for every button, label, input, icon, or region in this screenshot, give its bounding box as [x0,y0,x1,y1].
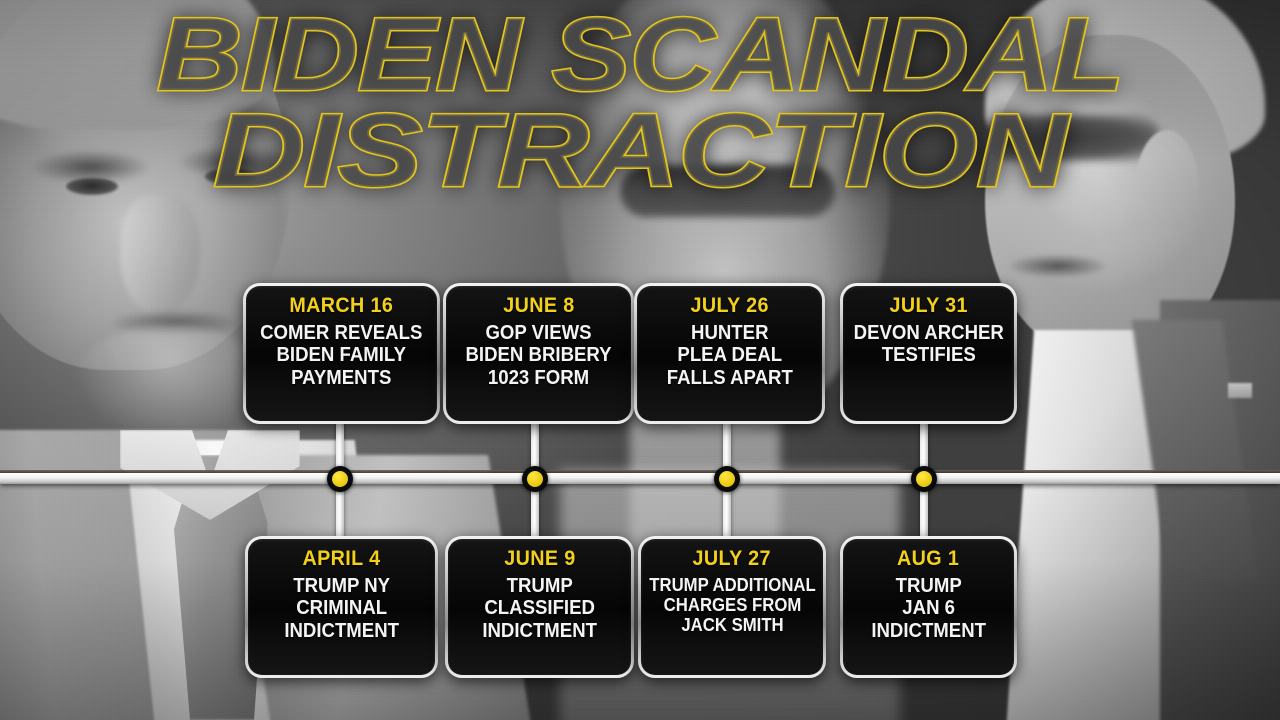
card-text-line: PLEA DEAL [666,344,792,366]
timeline-card-body: APRIL 4 TRUMP NY CRIMINAL INDICTMENT [248,539,435,675]
card-text-line: BIDEN BRIBERY [465,344,611,366]
card-text-line: TRUMP [482,575,597,597]
card-text-line: 1023 FORM [465,367,611,389]
card-text: TRUMP CLASSIFIED INDICTMENT [482,575,597,642]
timeline-card-bottom-3[interactable]: JULY 27 TRUMP ADDITIONAL CHARGES FROM JA… [638,536,826,678]
card-date: APRIL 4 [303,548,381,570]
card-text-line: COMER REVEALS [260,322,422,344]
card-text-line: TESTIFIES [853,344,1003,366]
timeline-dot-4[interactable] [911,466,937,492]
timeline-card-body: JULY 31 DEVON ARCHER TESTIFIES [843,286,1014,421]
timeline-card-top-3[interactable]: JULY 26 HUNTER PLEA DEAL FALLS APART [634,283,825,424]
timeline-dot-core [916,471,932,487]
timeline-dot-3[interactable] [714,466,740,492]
card-text: GOP VIEWS BIDEN BRIBERY 1023 FORM [465,322,611,389]
card-date: AUG 1 [897,548,959,570]
card-text-line: BIDEN FAMILY [260,344,422,366]
card-text-line: GOP VIEWS [465,322,611,344]
card-text: COMER REVEALS BIDEN FAMILY PAYMENTS [260,322,422,389]
card-text-line: CHARGES FROM [649,595,815,615]
card-text: DEVON ARCHER TESTIFIES [853,322,1003,367]
timeline-card-body: JULY 26 HUNTER PLEA DEAL FALLS APART [637,286,822,421]
timeline-card-top-2[interactable]: JUNE 8 GOP VIEWS BIDEN BRIBERY 1023 FORM [443,283,634,424]
card-text-line: INDICTMENT [871,620,986,642]
card-date: JUNE 9 [504,548,575,570]
timeline-card-body: JULY 27 TRUMP ADDITIONAL CHARGES FROM JA… [641,539,823,675]
timeline-rail [0,473,1280,484]
card-date: JULY 31 [889,295,967,317]
timeline-card-bottom-2[interactable]: JUNE 9 TRUMP CLASSIFIED INDICTMENT [445,536,634,678]
timeline-dot-core [332,471,348,487]
timeline-card-bottom-4[interactable]: AUG 1 TRUMP JAN 6 INDICTMENT [840,536,1017,678]
card-text: TRUMP ADDITIONAL CHARGES FROM JACK SMITH [649,575,815,635]
timeline-card-body: MARCH 16 COMER REVEALS BIDEN FAMILY PAYM… [246,286,437,421]
card-text: TRUMP NY CRIMINAL INDICTMENT [284,575,399,642]
card-text-line: CLASSIFIED [482,597,597,619]
timeline-dot-2[interactable] [522,466,548,492]
card-date: MARCH 16 [290,295,394,317]
timeline-card-top-1[interactable]: MARCH 16 COMER REVEALS BIDEN FAMILY PAYM… [243,283,440,424]
card-date: JULY 27 [693,548,771,570]
timeline-dot-core [719,471,735,487]
timeline-card-bottom-1[interactable]: APRIL 4 TRUMP NY CRIMINAL INDICTMENT [245,536,438,678]
timeline-dot-1[interactable] [327,466,353,492]
card-text-line: HUNTER [666,322,792,344]
card-date: JULY 26 [690,295,768,317]
card-text-line: JACK SMITH [649,615,815,635]
card-text-line: TRUMP ADDITIONAL [649,575,815,595]
card-text-line: JAN 6 [871,597,986,619]
card-text-line: DEVON ARCHER [853,322,1003,344]
card-text-line: CRIMINAL [284,597,399,619]
card-text-line: TRUMP [871,575,986,597]
card-text-line: INDICTMENT [284,620,399,642]
timeline-card-body: AUG 1 TRUMP JAN 6 INDICTMENT [843,539,1014,675]
card-text-line: PAYMENTS [260,367,422,389]
timeline-dot-core [527,471,543,487]
timeline-card-body: JUNE 8 GOP VIEWS BIDEN BRIBERY 1023 FORM [446,286,631,421]
card-text-line: FALLS APART [666,367,792,389]
card-date: JUNE 8 [503,295,574,317]
news-graphic: BIDEN SCANDAL DISTRACTION BIDEN SCANDAL … [0,0,1280,720]
timeline-card-body: JUNE 9 TRUMP CLASSIFIED INDICTMENT [448,539,631,675]
card-text: TRUMP JAN 6 INDICTMENT [871,575,986,642]
timeline-card-top-4[interactable]: JULY 31 DEVON ARCHER TESTIFIES [840,283,1017,424]
card-text-line: TRUMP NY [284,575,399,597]
card-text: HUNTER PLEA DEAL FALLS APART [666,322,792,389]
card-text-line: INDICTMENT [482,620,597,642]
